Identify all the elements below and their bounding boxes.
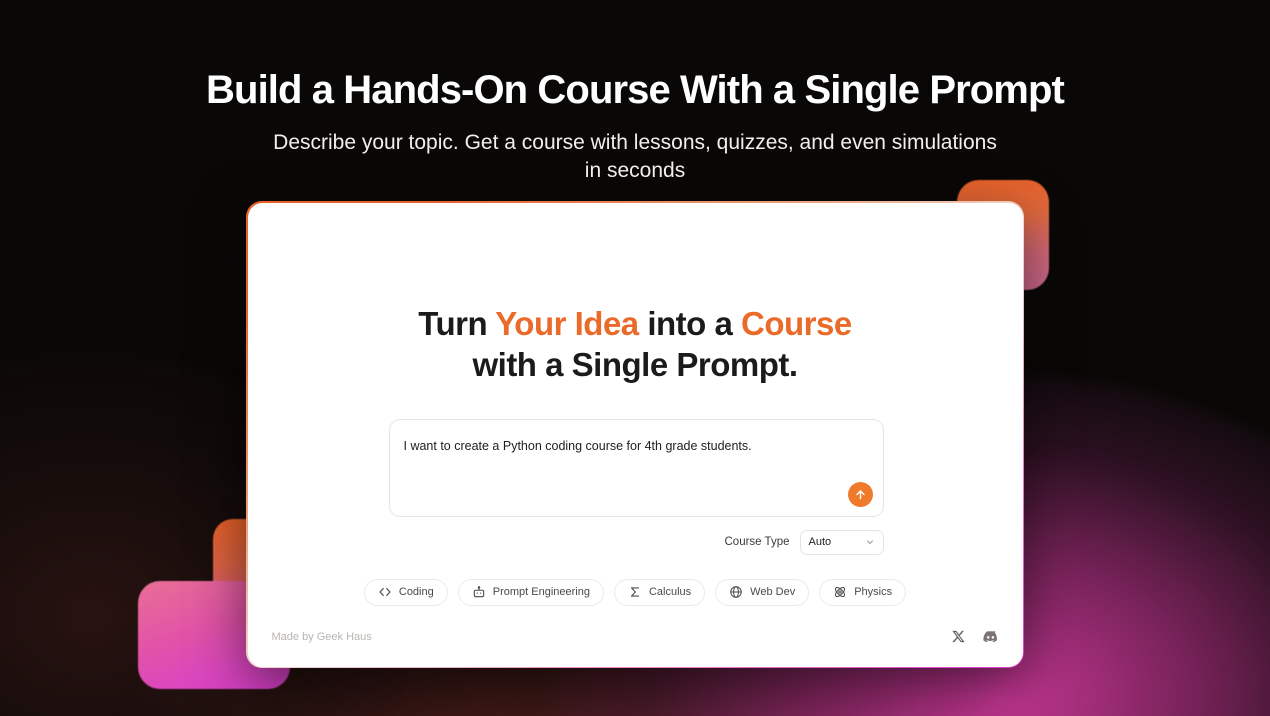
code-brackets-icon [378,585,392,599]
course-type-value: Auto [809,536,832,548]
social-links [951,628,999,645]
chip-label: Web Dev [750,586,795,598]
page-subtitle: Describe your topic. Get a course with l… [265,129,1005,185]
send-button[interactable] [848,482,873,507]
chip-calculus[interactable]: Calculus [614,579,705,606]
course-type-select[interactable]: Auto [800,530,884,555]
arrow-up-icon [854,488,867,501]
chip-label: Physics [854,586,892,598]
main-card-border: Turn Your Idea into a Course with a Sing… [246,201,1024,668]
card-heading-line2: with a Single Prompt. [248,344,1023,386]
chip-label: Coding [399,586,434,598]
course-type-label: Course Type [725,536,790,548]
discord-icon[interactable] [982,628,999,645]
page-root: Build a Hands-On Course With a Single Pr… [0,0,1270,716]
prompt-input-container[interactable]: I want to create a Python coding course … [389,419,884,517]
sigma-icon [628,585,642,599]
card-heading: Turn Your Idea into a Course with a Sing… [248,303,1023,386]
chip-web-dev[interactable]: Web Dev [715,579,809,606]
card-heading-accent-1: Your Idea [495,305,638,342]
chip-physics[interactable]: Physics [819,579,906,606]
x-twitter-icon[interactable] [951,629,966,644]
atom-icon [833,585,847,599]
card-heading-text-1: Turn [418,305,495,342]
card-heading-text-2: into a [639,305,741,342]
chip-prompt-engineering[interactable]: Prompt Engineering [458,579,604,606]
course-type-row: Course Type Auto [389,530,884,555]
chip-label: Calculus [649,586,691,598]
robot-icon [472,585,486,599]
card-heading-accent-2: Course [741,305,852,342]
suggestion-chips: Coding Prompt Engineering Calculus [248,579,1023,606]
chip-label: Prompt Engineering [493,586,590,598]
page-title: Build a Hands-On Course With a Single Pr… [0,68,1270,112]
made-by-label: Made by Geek Haus [272,631,372,643]
chip-coding[interactable]: Coding [364,579,448,606]
globe-icon [729,585,743,599]
main-card: Turn Your Idea into a Course with a Sing… [248,203,1023,667]
hero-section: Build a Hands-On Course With a Single Pr… [0,0,1270,185]
card-footer: Made by Geek Haus [248,607,1023,667]
prompt-input[interactable]: I want to create a Python coding course … [404,437,869,455]
chevron-down-icon [865,537,875,547]
